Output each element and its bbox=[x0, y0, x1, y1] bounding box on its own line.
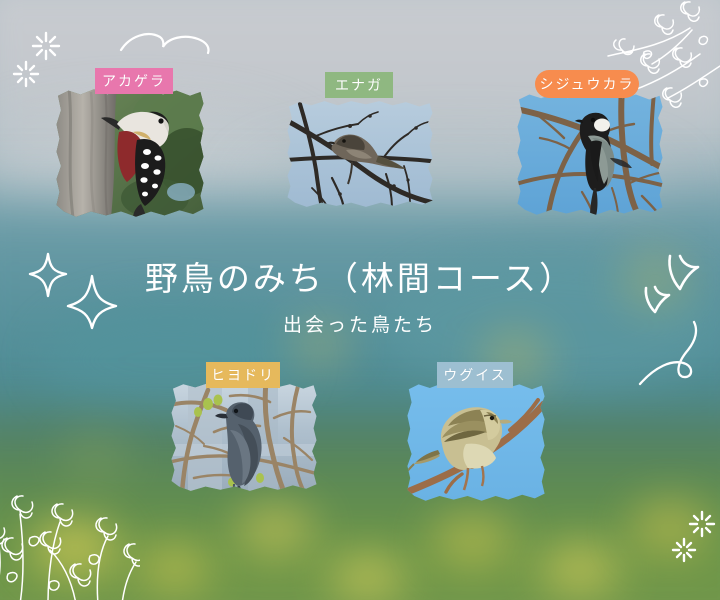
flower-blob bbox=[630, 500, 710, 555]
flower-blob bbox=[540, 545, 620, 593]
poster-canvas: アカゲラ エナガ シジュウカラ ヒヨドリ ウグイス 野鳥のみち（林間コース） 出… bbox=[0, 0, 720, 600]
photo-card-hiyodori[interactable] bbox=[170, 382, 318, 492]
woodpecker-photo bbox=[55, 88, 205, 218]
photo-card-shijukara[interactable] bbox=[516, 92, 664, 216]
brown-eared-bulbul-photo bbox=[170, 382, 318, 492]
flower-blob bbox=[330, 555, 405, 600]
photo-card-akagera[interactable] bbox=[55, 88, 205, 218]
photo-card-uguisu[interactable] bbox=[406, 382, 546, 502]
photo-label-shijukara: シジュウカラ bbox=[535, 70, 639, 98]
bush-warbler-photo bbox=[406, 382, 546, 502]
flower-blob bbox=[60, 430, 130, 485]
page-title: 野鳥のみち（林間コース） bbox=[0, 252, 720, 300]
photo-label-enaga: エナガ bbox=[325, 72, 393, 98]
page-subtitle: 出会った鳥たち bbox=[0, 310, 720, 337]
flower-blob bbox=[30, 520, 120, 575]
flower-blob bbox=[430, 515, 515, 565]
long-tailed-tit-photo bbox=[286, 100, 434, 208]
photo-card-enaga[interactable] bbox=[286, 100, 434, 208]
photo-label-uguisu: ウグイス bbox=[437, 362, 513, 388]
photo-label-akagera: アカゲラ bbox=[95, 68, 173, 94]
flower-blob bbox=[140, 545, 210, 590]
flower-blob bbox=[235, 505, 315, 555]
photo-label-hiyodori: ヒヨドリ bbox=[206, 362, 280, 388]
japanese-tit-photo bbox=[516, 92, 664, 216]
